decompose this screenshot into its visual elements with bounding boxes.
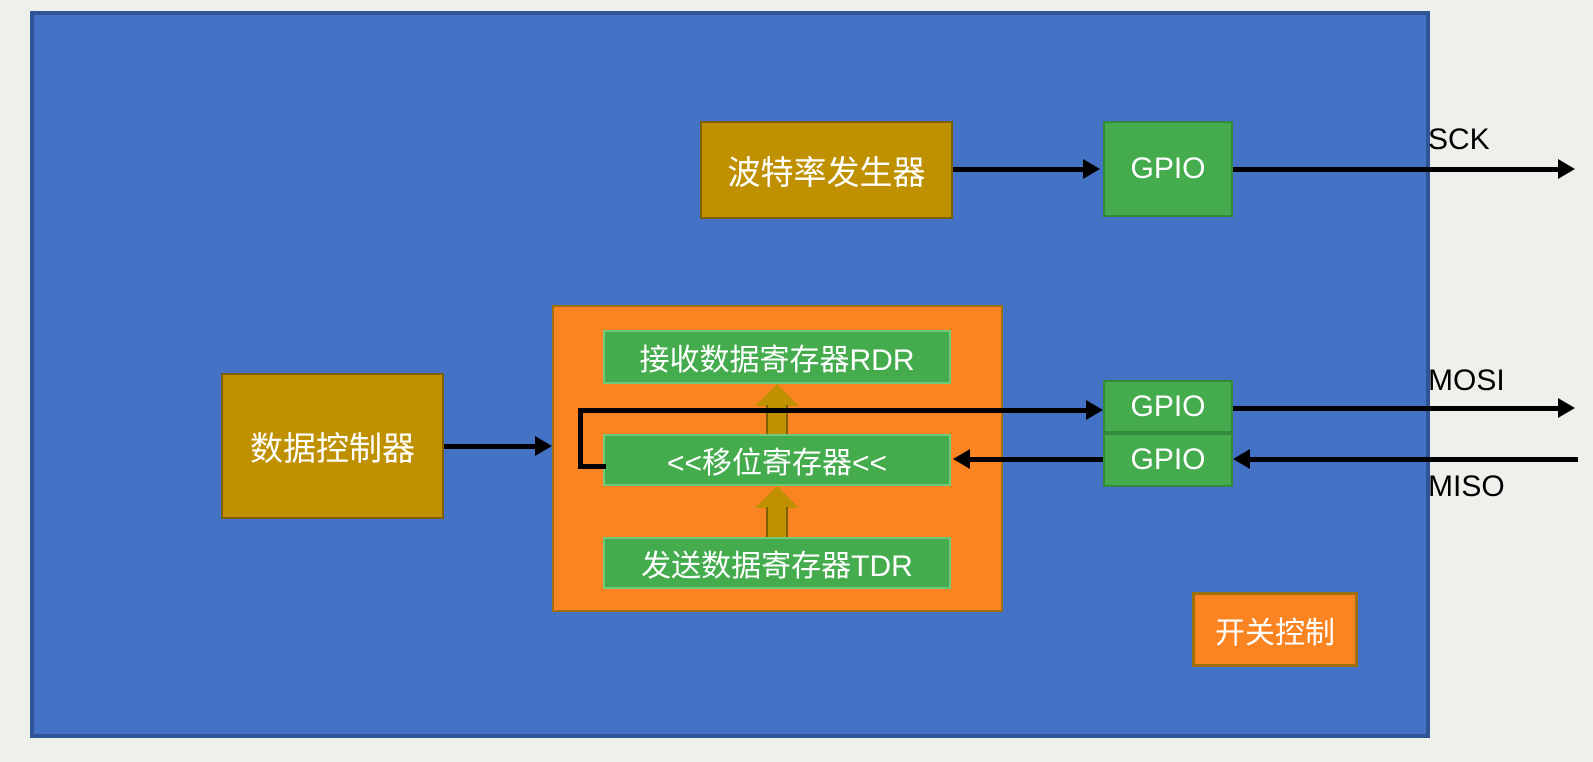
signal-label-sck: SCK bbox=[1428, 123, 1490, 157]
gpio-block-mosi: GPIO bbox=[1103, 380, 1233, 433]
gpio-sck-label: GPIO bbox=[1130, 152, 1205, 186]
miso-input-line bbox=[1250, 457, 1578, 462]
signal-label-miso: MISO bbox=[1428, 470, 1505, 504]
shift-register-label: <<移位寄存器<< bbox=[667, 438, 887, 482]
tdr-to-shift-shaft bbox=[766, 507, 788, 538]
gpio-block-sck: GPIO bbox=[1103, 121, 1233, 217]
sck-output-arrowhead bbox=[1558, 159, 1575, 179]
transmit-data-register-block: 发送数据寄存器TDR bbox=[603, 537, 951, 589]
gpio-miso-label: GPIO bbox=[1130, 443, 1205, 477]
switch-control-block: 开关控制 bbox=[1192, 592, 1358, 667]
sck-output-line bbox=[1233, 167, 1558, 172]
mosi-output-arrowhead bbox=[1558, 398, 1575, 418]
miso-input-arrowhead bbox=[1233, 449, 1250, 469]
gpio-miso-to-shift-arrowhead bbox=[953, 449, 970, 469]
transmit-data-register-label: 发送数据寄存器TDR bbox=[641, 541, 913, 585]
controller-to-registers-line bbox=[444, 444, 535, 449]
baud-rate-generator-label: 波特率发生器 bbox=[728, 146, 926, 194]
switch-control-label: 开关控制 bbox=[1215, 608, 1335, 652]
baud-rate-generator-block: 波特率发生器 bbox=[700, 121, 953, 219]
tdr-to-shift-arrow bbox=[755, 486, 799, 538]
gpio-block-miso: GPIO bbox=[1103, 433, 1233, 487]
baud-to-gpio-line bbox=[953, 167, 1083, 172]
mosi-output-line bbox=[1233, 406, 1558, 411]
shift-to-gpio-mosi-arrowhead bbox=[1086, 400, 1103, 420]
shift-out-entry-line bbox=[578, 464, 606, 469]
baud-to-gpio-arrowhead bbox=[1083, 159, 1100, 179]
shift-to-gpio-mosi-line bbox=[578, 408, 1086, 413]
gpio-miso-to-shift-line bbox=[970, 457, 1103, 462]
receive-data-register-label: 接收数据寄存器RDR bbox=[640, 335, 915, 379]
data-controller-block: 数据控制器 bbox=[221, 373, 444, 519]
shift-to-rdr-arrowhead bbox=[755, 384, 799, 406]
receive-data-register-block: 接收数据寄存器RDR bbox=[603, 330, 951, 384]
diagram-canvas: 波特率发生器 GPIO SCK 数据控制器 接收数据寄存器RDR <<移位寄存器… bbox=[0, 0, 1593, 762]
gpio-mosi-label: GPIO bbox=[1130, 390, 1205, 424]
controller-to-registers-arrowhead bbox=[535, 436, 552, 456]
shift-out-vertical-line bbox=[578, 408, 583, 469]
tdr-to-shift-arrowhead bbox=[755, 486, 799, 508]
shift-register-block: <<移位寄存器<< bbox=[603, 434, 951, 486]
signal-label-mosi: MOSI bbox=[1428, 364, 1505, 398]
data-controller-label: 数据控制器 bbox=[250, 422, 415, 470]
